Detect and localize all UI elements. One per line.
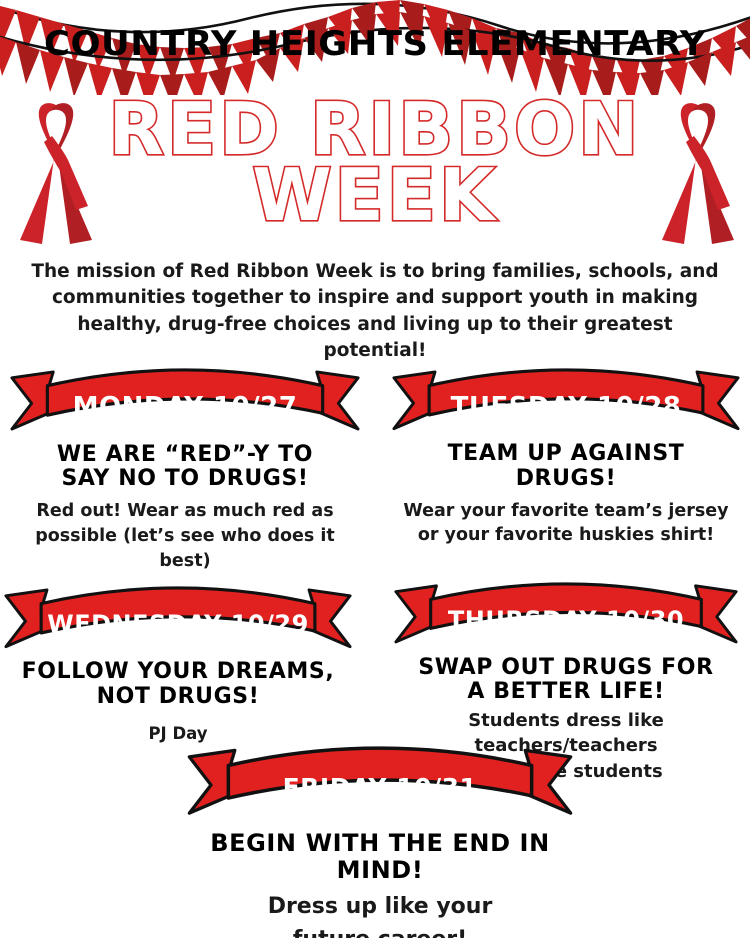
headline-line: TEAM UP AGAINST <box>390 442 742 467</box>
detail-line: PJ Day <box>2 722 354 745</box>
day-detail-monday: Red out! Wear as much red as possible (l… <box>8 499 362 574</box>
day-headline-thursday: SWAP OUT DRUGS FOR A BETTER LIFE! <box>392 656 740 705</box>
detail-line: or your favorite huskies shirt! <box>390 523 742 548</box>
headline-line: SWAP OUT DRUGS FOR <box>392 656 740 681</box>
headline-line: SAY NO TO DRUGS! <box>8 467 362 492</box>
detail-line: Wear your favorite team’s jersey <box>390 499 742 524</box>
banner-friday: FRIDAY 10/31 <box>185 746 575 824</box>
headline-line: NOT DRUGS! <box>2 685 354 710</box>
ribbon-banner-shape <box>390 368 742 438</box>
banner-thursday: THURSDAY 10/30 <box>392 582 740 652</box>
ribbon-banner-shape <box>8 368 362 439</box>
ribbon-banner-shape <box>2 586 354 656</box>
ribbon-banner-shape <box>392 582 740 652</box>
headline-line: A BETTER LIFE! <box>392 680 740 705</box>
red-ribbon-week-poster: COUNTRY HEIGHTS ELEMENTARY RED RIBBON WE… <box>0 0 750 938</box>
day-card-wednesday: WEDNESDAY 10/29 FOLLOW YOUR DREAMS, NOT … <box>2 586 354 745</box>
mission-statement: The mission of Red Ribbon Week is to bri… <box>28 259 722 364</box>
day-headline-tuesday: TEAM UP AGAINST DRUGS! <box>390 442 742 491</box>
poster-main-title: RED RIBBON WEEK <box>85 96 665 228</box>
headline-line: BEGIN WITH THE END IN MIND! <box>185 830 575 884</box>
title-line-2: WEEK <box>85 162 665 228</box>
page-title: COUNTRY HEIGHTS ELEMENTARY <box>0 24 750 64</box>
day-headline-wednesday: FOLLOW YOUR DREAMS, NOT DRUGS! <box>2 660 354 709</box>
headline-line: DRUGS! <box>390 467 742 492</box>
day-detail-friday: Dress up like your future career! <box>185 890 575 938</box>
banner-monday: MONDAY 10/27 <box>8 368 362 439</box>
day-headline-monday: WE ARE “RED”-Y TO SAY NO TO DRUGS! <box>8 443 362 492</box>
detail-line: Dress up like your <box>185 890 575 923</box>
detail-line: Red out! Wear as much red as <box>8 499 362 524</box>
day-card-tuesday: TUESDAY 10/28 TEAM UP AGAINST DRUGS! Wea… <box>390 368 742 548</box>
banner-tuesday: TUESDAY 10/28 <box>390 368 742 438</box>
ribbon-banner-shape <box>185 746 575 824</box>
detail-line: future career! <box>185 923 575 938</box>
banner-wednesday: WEDNESDAY 10/29 <box>2 586 354 656</box>
day-card-friday: FRIDAY 10/31 BEGIN WITH THE END IN MIND!… <box>185 746 575 938</box>
detail-line: possible (let’s see who does it best) <box>8 524 362 574</box>
headline-line: WE ARE “RED”-Y TO <box>8 443 362 468</box>
day-card-monday: MONDAY 10/27 WE ARE “RED”-Y TO SAY NO TO… <box>8 368 362 574</box>
day-headline-friday: BEGIN WITH THE END IN MIND! <box>185 830 575 884</box>
day-detail-wednesday: PJ Day <box>2 722 354 745</box>
headline-line: FOLLOW YOUR DREAMS, <box>2 660 354 685</box>
day-detail-tuesday: Wear your favorite team’s jersey or your… <box>390 499 742 549</box>
